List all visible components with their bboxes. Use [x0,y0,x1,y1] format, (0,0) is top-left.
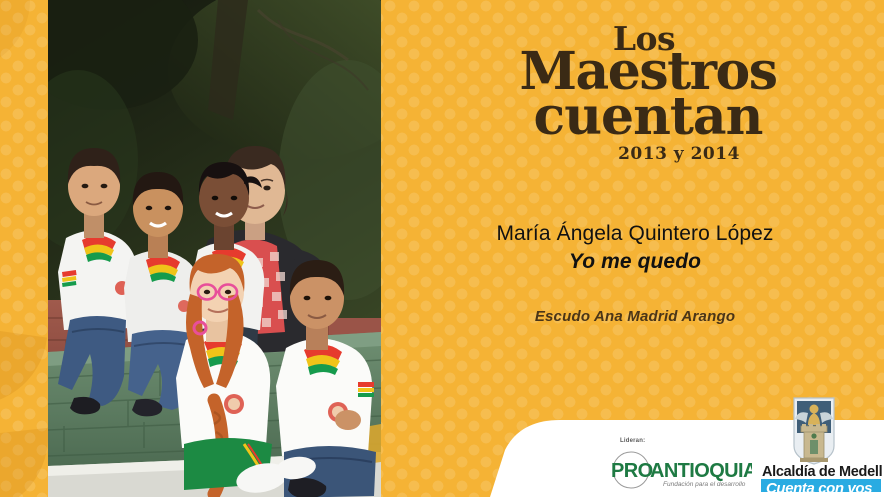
program-logo: Los Maestros cuentan 2013 y 2014 [448,24,848,164]
decorative-leaf-middle [0,327,47,415]
proantioquia-logo: PRO ANTIOQUIA Fundación para el desarrol… [607,450,752,490]
lideran-label: Lideran: [620,438,645,444]
alcaldia-line1: Alcaldía de Medellín [762,464,882,480]
alcaldia-line2: Cuenta con vos [766,480,872,492]
alcaldia-medellin-logo: Alcaldía de Medellín Cuenta con vos [760,396,882,492]
svg-text:Fundación para el desarrollo: Fundación para el desarrollo [663,481,746,488]
presentation-slide: Los Maestros cuentan 2013 y 2014 María Á… [0,0,884,497]
svg-text:ANTIOQUIA: ANTIOQUIA [650,460,752,482]
group-photo [48,0,381,497]
story-title: Yo me quedo [400,250,870,274]
decorative-leaf-top [0,0,30,70]
logo-line-cuentan: cuentan [448,92,848,141]
school-name: Escudo Ana Madrid Arango [400,308,870,325]
svg-text:PRO: PRO [611,460,653,482]
author-name: María Ángela Quintero López [400,222,870,246]
medellin-coat-of-arms [794,398,834,464]
